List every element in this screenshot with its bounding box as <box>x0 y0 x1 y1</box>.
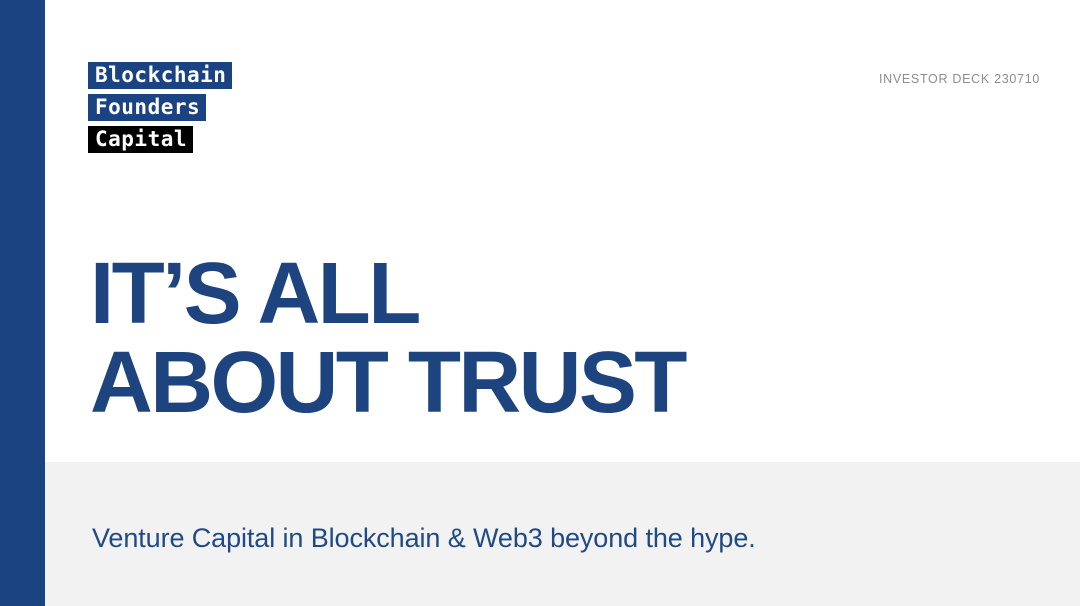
subtitle-text: Venture Capital in Blockchain & Web3 bey… <box>92 521 756 555</box>
deck-tag-label: INVESTOR DECK 230710 <box>879 72 1040 86</box>
brand-logo: Blockchain Founders Capital <box>88 62 232 153</box>
headline-line-1: IT’S ALL <box>90 249 685 338</box>
page-title: IT’S ALL ABOUT TRUST <box>90 249 685 427</box>
logo-line-blockchain: Blockchain <box>88 62 232 89</box>
logo-line-founders: Founders <box>88 94 206 121</box>
title-slide: Blockchain Founders Capital INVESTOR DEC… <box>0 0 1080 606</box>
headline-line-2: ABOUT TRUST <box>90 338 685 427</box>
logo-line-capital: Capital <box>88 126 193 153</box>
left-accent-bar <box>0 0 45 606</box>
